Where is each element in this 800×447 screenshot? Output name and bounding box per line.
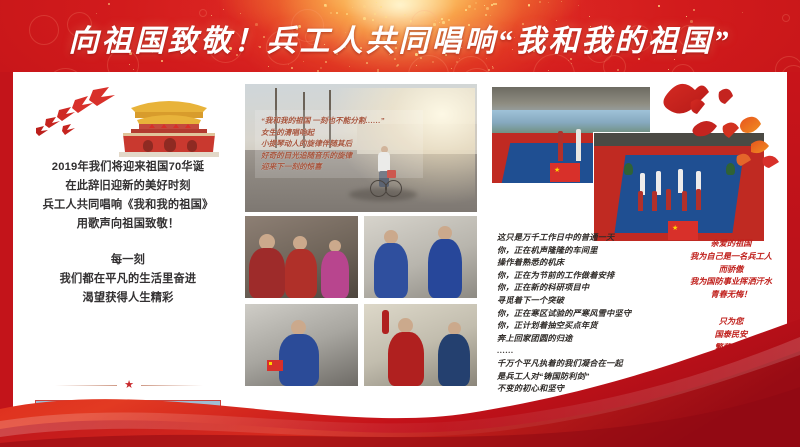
photo-girl-on-bicycle: “我和我的祖国 一刻也不能分割……” 女生的清唱响起 小提琴动人的旋律伴随其后 … (245, 84, 477, 212)
body-line: 不变的初心和坚守 (497, 383, 683, 396)
person-figure (249, 248, 285, 298)
body-line: …… (497, 345, 683, 358)
divider-bar-right (141, 385, 203, 386)
body-line: 操作着熟悉的机床 (497, 257, 683, 270)
paragraph-gap (21, 234, 235, 251)
person-head (291, 320, 306, 335)
person-figure (428, 239, 462, 298)
person-figure (279, 334, 319, 386)
slogan-gap (681, 302, 781, 316)
caption-line: 一场突如其来的快闪正在酝酿中 (47, 427, 215, 440)
person-figure (682, 191, 687, 211)
star-icon: ★ (124, 380, 134, 391)
body-line: 你，正在新的科研项目中 (497, 282, 683, 295)
person-head (384, 230, 398, 244)
page-title: 向祖国致敬！兵工人共同唱响“我和我的祖国” (0, 16, 800, 60)
slogan-line: 国泰民安 (681, 329, 781, 342)
tiananmen-gate-icon (113, 92, 225, 158)
photo-woman-red-hoodie-waving (364, 304, 477, 386)
person-figure (374, 243, 408, 298)
dove-icon-group-right (651, 74, 787, 194)
right-red-slogan: 亲爱的祖国 我为自己是一名兵工人 而骄傲 我为国防事业挥洒汗水 青春无悔！ 只为… (681, 238, 781, 354)
person-figure (321, 251, 349, 298)
plant-icon (624, 163, 633, 175)
slogan-line: 我为国防事业挥洒汗水 (681, 276, 781, 289)
body-line: 奔上回家团圆的归途 (497, 333, 683, 346)
person-figure (438, 334, 470, 386)
body-line: 千万个平凡执着的我们凝合在一起 (497, 358, 683, 371)
right-column: ★ ★ (483, 72, 787, 447)
person-figure (576, 129, 581, 161)
body-line: 你，正计划着抽空买点年货 (497, 320, 683, 333)
caption-line: “我和我的祖国 一刻也不能分割……” (261, 115, 417, 127)
tiananmen-graphic (31, 86, 226, 158)
person-head (438, 226, 452, 240)
divider-bar-left (55, 385, 117, 386)
photo-workers-blue-uniform-phone (364, 216, 477, 298)
photo-worker-with-flag-reading (245, 304, 358, 386)
person-figure (388, 332, 424, 386)
person-figure (652, 191, 657, 211)
body-line: 这只是万千工作日中的普通一天 (497, 232, 683, 245)
intro-line: 用歌声向祖国致敬！ (21, 215, 235, 234)
person-figure (558, 131, 563, 161)
china-flag-icon (267, 360, 283, 371)
slogan-line: 繁荣昌盛 (681, 342, 781, 355)
person-head (398, 318, 413, 333)
person-head (293, 236, 307, 250)
photo-caption: 清晨的兵工厂区内 一场突如其来的快闪正在酝酿中 快闪队员纷纷开始行动 (47, 414, 215, 447)
center-column: “我和我的祖国 一刻也不能分割……” 女生的清唱响起 小提琴动人的旋律伴随其后 … (245, 84, 477, 444)
photo-factory-dawn: 清晨的兵工厂区内 一场突如其来的快闪正在酝酿中 快闪队员纷纷开始行动 (35, 400, 221, 447)
slogan-line: 只为您 (681, 316, 781, 329)
left-column: 2019年我们将迎来祖国70华诞 在此辞旧迎新的美好时刻 兵工人共同唱响《我和我… (13, 72, 243, 447)
slogan-line: 而骄傲 (681, 264, 781, 277)
body-line: 寻觅着下一个突破 (497, 295, 683, 308)
body-line: 你，正在寒区试验的严寒风雪中坚守 (497, 308, 683, 321)
body-line: 是兵工人对“铸国防利剑” (497, 371, 683, 384)
intro-line: 兵工人共同唱响《我和我的祖国》 (21, 196, 235, 215)
caption-line: 好奇的目光追随音乐的旋律 (261, 150, 417, 162)
intro-line: 2019年我们将迎来祖国70华诞 (21, 158, 235, 177)
caption-line: 清晨的兵工厂区内 (47, 414, 215, 427)
caption-line: 迎来下一刻的惊喜 (261, 161, 417, 173)
raised-arm (382, 310, 389, 334)
body-line: 你，正在机声隆隆的车间里 (497, 245, 683, 258)
photo-elder-women-singing (245, 216, 358, 298)
slogan-line: 亲爱的祖国 (681, 238, 781, 251)
title-banner: 向祖国致敬！兵工人共同唱响“我和我的祖国” (0, 0, 800, 72)
photo-grid (245, 216, 477, 386)
intro-line: 每一刻 (21, 251, 235, 270)
left-intro-text: 2019年我们将迎来祖国70华诞 在此辞旧迎新的美好时刻 兵工人共同唱响《我和我… (21, 158, 235, 308)
right-body-text: 这只是万千工作日中的普通一天 你，正在机声隆隆的车间里 操作着熟悉的机床 你，正… (497, 232, 683, 396)
caption-line: 女生的清唱响起 (261, 127, 417, 139)
slogan-line: 我为自己是一名兵工人 (681, 251, 781, 264)
section-divider: ★ (41, 379, 217, 391)
intro-line: 在此辞旧迎新的美好时刻 (21, 177, 235, 196)
caption-line: 快闪队员纷纷开始行动 (47, 439, 215, 447)
photo-caption: “我和我的祖国 一刻也不能分割……” 女生的清唱响起 小提琴动人的旋律伴随其后 … (255, 110, 423, 178)
china-flag-icon: ★ (550, 163, 580, 182)
poster-root: 向祖国致敬！兵工人共同唱响“我和我的祖国” (0, 0, 800, 447)
caption-line: 小提琴动人的旋律伴随其后 (261, 138, 417, 150)
slogan-line: 青春无悔！ (681, 289, 781, 302)
intro-line: 渴望获得人生精彩 (21, 289, 235, 308)
person-figure (285, 249, 317, 298)
person-figure (638, 191, 643, 211)
intro-line: 我们都在平凡的生活里奋进 (21, 270, 235, 289)
bicycle-wheel (385, 180, 402, 197)
content-canvas: 2019年我们将迎来祖国70华诞 在此辞旧迎新的美好时刻 兵工人共同唱响《我和我… (13, 72, 787, 447)
body-line: 你，正在为节前的工作做着安排 (497, 270, 683, 283)
